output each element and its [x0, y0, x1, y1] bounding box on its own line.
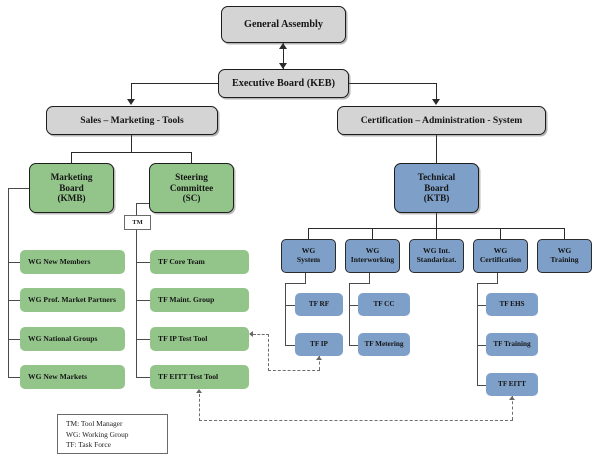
wg-int-standardization-line2: Standarizat.: [412, 256, 461, 265]
node-wg-interworking[interactable]: WG Interworking: [345, 239, 400, 273]
org-chart-diagram: General Assembly Executive Board (KEB) S…: [0, 0, 600, 459]
steering-committee-line3: (SC): [152, 193, 231, 204]
wg-interworking-line2: Interworking: [348, 256, 397, 265]
node-wg-certification[interactable]: WG Certification: [473, 239, 528, 273]
arrowhead-certification-branch: [432, 99, 440, 105]
node-tf-rf[interactable]: TF RF: [295, 293, 343, 316]
connector-ktb-drop: [436, 213, 437, 229]
wg-training-line2: Training: [540, 256, 589, 265]
tf-ip-label: TF IP: [295, 340, 343, 348]
connector-keb-left: [131, 83, 219, 84]
sales-branch-label: Sales – Marketing - Tools: [47, 115, 217, 126]
wg-system-line2: System: [284, 256, 333, 265]
connector-ktb-to-wg-interworking: [372, 228, 373, 239]
tf-cc-label: TF CC: [358, 300, 410, 308]
node-wg-new-markets[interactable]: WG New Markets: [20, 365, 125, 389]
node-steering-committee[interactable]: Steering Committee (SC): [149, 163, 234, 213]
node-tf-maint-group[interactable]: TF Maint. Group: [150, 288, 249, 312]
connector-wg-certification-spine: [477, 283, 478, 386]
node-executive-board[interactable]: Executive Board (KEB): [218, 69, 349, 98]
node-technical-board[interactable]: Technical Board (KTB): [394, 163, 479, 213]
node-wg-national-groups[interactable]: WG National Groups: [20, 327, 125, 351]
tf-ehs-label: TF EHS: [486, 300, 538, 308]
tf-ip-test-tool-label: TF IP Test Tool: [150, 335, 249, 344]
executive-board-label: Executive Board (KEB): [219, 78, 348, 90]
wg-national-groups-label: WG National Groups: [20, 335, 125, 344]
node-marketing-board[interactable]: Marketing Board (KMB): [29, 163, 114, 213]
connector-ktb-to-wg-training: [564, 228, 565, 239]
node-tf-ehs[interactable]: TF EHS: [486, 293, 538, 316]
tf-maint-group-label: TF Maint. Group: [150, 296, 249, 305]
connector-sc-to-tf1: [136, 262, 150, 263]
node-wg-system[interactable]: WG System: [281, 239, 336, 273]
steering-committee-line1: Steering: [152, 172, 231, 183]
wg-int-standardization-label: WG Int. Standarizat.: [410, 247, 463, 265]
wg-new-markets-label: WG New Markets: [20, 373, 125, 382]
technical-board-line3: (KTB): [397, 193, 476, 204]
wg-interworking-label: WG Interworking: [346, 247, 399, 265]
arrowhead-dashed-tf-ip-test-tool: [249, 331, 253, 337]
connector-kmb-exit: [8, 188, 30, 189]
connector-ktb-to-wg-standardizat: [436, 228, 437, 239]
tf-metering-label: TF Metering: [358, 340, 410, 348]
tf-rf-label: TF RF: [295, 300, 343, 308]
marketing-board-line3: (KMB): [32, 193, 111, 204]
marketing-board-line1: Marketing: [32, 172, 111, 183]
marketing-board-label: Marketing Board (KMB): [30, 172, 113, 204]
dashed-tf-eitt-across: [199, 420, 513, 421]
general-assembly-label: General Assembly: [222, 19, 345, 31]
legend-box: TM: Tool Manager WG: Working Group TF: T…: [57, 414, 168, 454]
connector-sales-to-sc: [191, 152, 192, 163]
node-wg-new-members[interactable]: WG New Members: [20, 250, 125, 274]
tool-manager-marker-label: TM: [132, 219, 142, 226]
node-certification-branch[interactable]: Certification – Administration - System: [337, 106, 546, 135]
node-tf-metering[interactable]: TF Metering: [358, 333, 410, 356]
arrowhead-up-ga: [279, 43, 287, 49]
connector-wg-system-turn: [285, 283, 306, 284]
wg-new-members-label: WG New Members: [20, 258, 125, 267]
connector-ktb-to-wg-certification: [500, 228, 501, 239]
certification-branch-label: Certification – Administration - System: [338, 115, 545, 126]
node-tf-training[interactable]: TF Training: [486, 333, 538, 356]
connector-sales-bus: [71, 152, 192, 153]
wg-certification-line2: Certification: [476, 256, 525, 265]
connector-kmb-to-wg3: [8, 339, 20, 340]
tf-eitt-test-tool-label: TF EITT Test Tool: [150, 373, 249, 382]
connector-wg-system-spine: [285, 283, 286, 346]
tf-eitt-label: TF EITT: [486, 380, 538, 388]
tf-core-team-label: TF Core Team: [150, 258, 249, 267]
connector-sc-to-tf3: [136, 339, 150, 340]
node-tf-cc[interactable]: TF CC: [358, 293, 410, 316]
wg-certification-label: WG Certification: [474, 247, 527, 265]
node-wg-training[interactable]: WG Training: [537, 239, 592, 273]
technical-board-line2: Board: [397, 183, 476, 194]
connector-kmb-to-wg2: [8, 300, 20, 301]
legend-line-tm: TM: Tool Manager: [66, 419, 160, 430]
connector-wg-system-to-tf-rf: [285, 305, 295, 306]
wg-training-label: WG Training: [538, 247, 591, 265]
node-sales-branch[interactable]: Sales – Marketing - Tools: [46, 106, 218, 135]
connector-wg-interworking-spine: [349, 283, 350, 346]
connector-kmb-to-wg1: [8, 262, 20, 263]
dashed-tf-eitt-rise: [199, 394, 200, 421]
node-tf-eitt-test-tool[interactable]: TF EITT Test Tool: [150, 365, 249, 389]
arrowhead-sales-branch: [127, 99, 135, 105]
connector-ktb-to-wg-system: [308, 228, 309, 239]
dashed-tf-ip-across: [268, 370, 320, 371]
connector-wg-interworking-turn: [349, 283, 370, 284]
wg-system-label: WG System: [282, 247, 335, 265]
tool-manager-marker[interactable]: TM: [124, 215, 151, 230]
connector-sc-to-tf4: [136, 377, 150, 378]
node-tf-ip-test-tool[interactable]: TF IP Test Tool: [150, 327, 249, 351]
connector-kmb-spine: [8, 188, 9, 378]
arrowhead-dashed-tf-eitt-source: [509, 396, 515, 400]
technical-board-label: Technical Board (KTB): [395, 172, 478, 204]
connector-keb-right: [348, 83, 437, 84]
connector-certification-to-ktb: [436, 135, 437, 163]
wg-prof-market-partners-label: WG Prof. Market Partners: [20, 296, 125, 305]
connector-sales-drop: [131, 135, 132, 153]
connector-wg-certification-turn: [477, 283, 498, 284]
connector-sc-exit: [136, 203, 150, 204]
legend-line-wg: WG: Working Group: [66, 430, 160, 441]
marketing-board-line2: Board: [32, 183, 111, 194]
node-wg-int-standardization[interactable]: WG Int. Standarizat.: [409, 239, 464, 273]
steering-committee-line2: Committee: [152, 183, 231, 194]
arrowhead-dashed-tf-ip-source: [316, 356, 322, 360]
tf-training-label: TF Training: [486, 340, 538, 348]
dashed-tf-ip-to-target: [253, 334, 269, 335]
connector-wg-system-to-tf-ip: [285, 345, 295, 346]
arrowhead-dashed-tf-eitt-test-tool: [196, 389, 202, 393]
node-tf-eitt[interactable]: TF EITT: [486, 373, 538, 396]
connector-sc-to-tf2: [136, 300, 150, 301]
dashed-tf-ip-rise: [268, 334, 269, 371]
node-wg-prof-market-partners[interactable]: WG Prof. Market Partners: [20, 288, 125, 312]
legend-line-tf: TF: Task Force: [66, 440, 160, 451]
connector-kmb-to-wg4: [8, 377, 20, 378]
node-tf-ip[interactable]: TF IP: [295, 333, 343, 356]
steering-committee-label: Steering Committee (SC): [150, 172, 233, 204]
connector-wg-interworking-drop: [369, 273, 370, 283]
node-tf-core-team[interactable]: TF Core Team: [150, 250, 249, 274]
connector-sales-to-kmb: [71, 152, 72, 163]
connector-wg-system-drop: [305, 273, 306, 283]
node-general-assembly[interactable]: General Assembly: [221, 6, 346, 43]
technical-board-line1: Technical: [397, 172, 476, 183]
connector-wg-certification-drop: [497, 273, 498, 283]
